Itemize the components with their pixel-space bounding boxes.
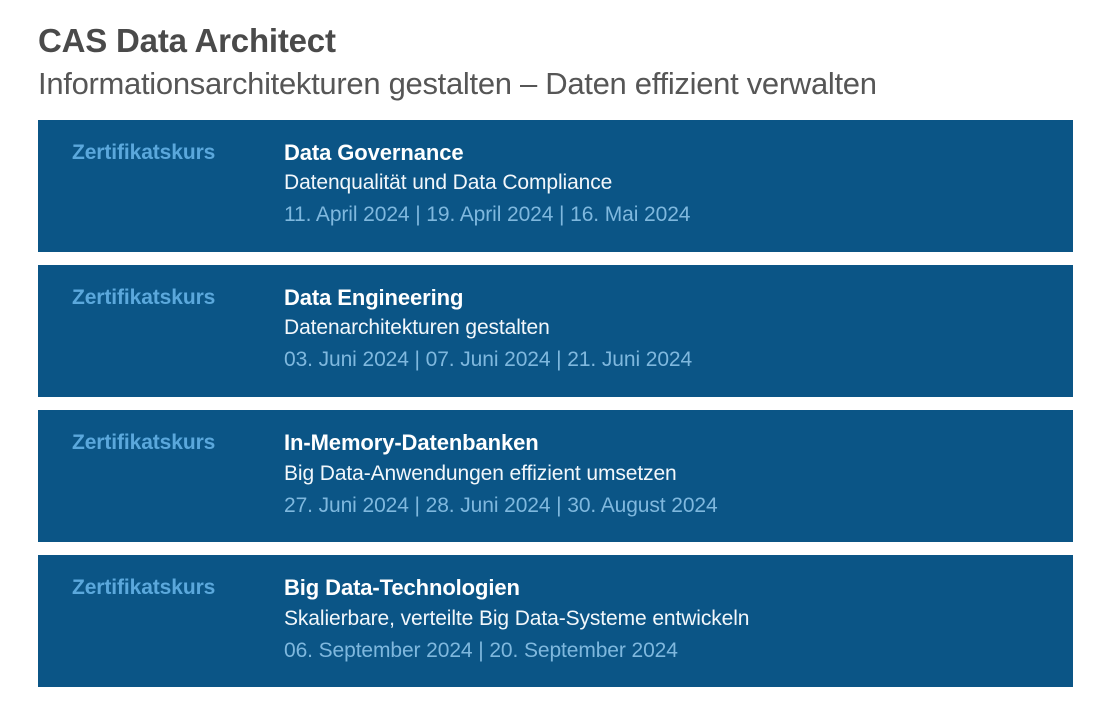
course-dates: 11. April 2024 | 19. April 2024 | 16. Ma… xyxy=(284,199,1053,232)
course-description: Datenarchitekturen gestalten xyxy=(284,312,1053,344)
course-card[interactable]: Zertifikatskurs Data Governance Datenqua… xyxy=(38,120,1073,252)
course-description: Skalierbare, verteilte Big Data-Systeme … xyxy=(284,603,1053,635)
course-title: Data Engineering xyxy=(284,283,1053,312)
course-card[interactable]: Zertifikatskurs Big Data-Technologien Sk… xyxy=(38,555,1073,687)
course-body: In-Memory-Datenbanken Big Data-Anwendung… xyxy=(284,428,1053,522)
course-description: Big Data-Anwendungen effizient umsetzen xyxy=(284,458,1053,490)
course-title: Big Data-Technologien xyxy=(284,573,1053,602)
course-dates: 27. Juni 2024 | 28. Juni 2024 | 30. Augu… xyxy=(284,490,1053,523)
course-description: Datenqualität und Data Compliance xyxy=(284,167,1053,199)
page-subtitle: Informationsarchitekturen gestalten – Da… xyxy=(38,65,1073,103)
course-kicker: Zertifikatskurs xyxy=(72,573,284,603)
course-card[interactable]: Zertifikatskurs Data Engineering Datenar… xyxy=(38,265,1073,397)
course-body: Data Engineering Datenarchitekturen gest… xyxy=(284,283,1053,377)
course-title: In-Memory-Datenbanken xyxy=(284,428,1053,457)
course-card[interactable]: Zertifikatskurs In-Memory-Datenbanken Bi… xyxy=(38,410,1073,542)
page-header: CAS Data Architect Informationsarchitekt… xyxy=(38,0,1073,103)
course-list: Zertifikatskurs Data Governance Datenqua… xyxy=(38,120,1073,688)
page-title: CAS Data Architect xyxy=(38,22,1073,61)
course-body: Big Data-Technologien Skalierbare, verte… xyxy=(284,573,1053,667)
course-title: Data Governance xyxy=(284,138,1053,167)
course-dates: 06. September 2024 | 20. September 2024 xyxy=(284,635,1053,668)
course-dates: 03. Juni 2024 | 07. Juni 2024 | 21. Juni… xyxy=(284,344,1053,377)
course-kicker: Zertifikatskurs xyxy=(72,428,284,458)
course-kicker: Zertifikatskurs xyxy=(72,138,284,168)
course-body: Data Governance Datenqualität und Data C… xyxy=(284,138,1053,232)
course-program-page: CAS Data Architect Informationsarchitekt… xyxy=(0,0,1111,727)
course-kicker: Zertifikatskurs xyxy=(72,283,284,313)
